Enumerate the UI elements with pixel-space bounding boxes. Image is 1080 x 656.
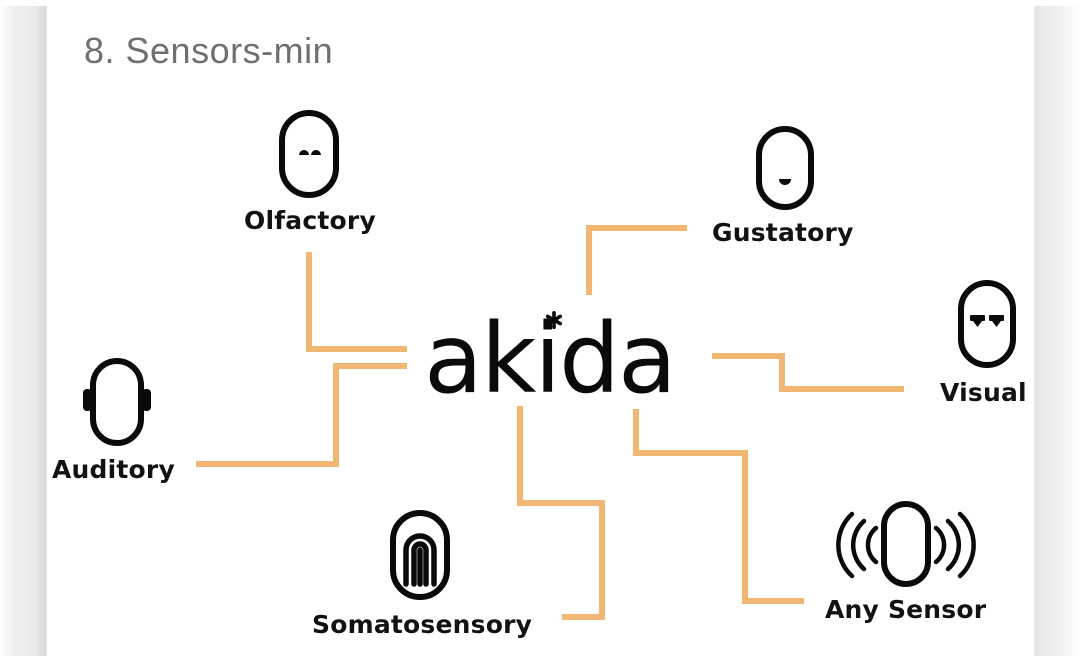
fingerprint-icon: [388, 508, 452, 607]
mouth-head-icon: [754, 124, 816, 217]
screenshot-canvas: 8. Sensors-min akida: [0, 0, 1080, 656]
wire-anysensor-horizontal-upper: [633, 450, 748, 456]
node-gustatory[interactable]: Gustatory: [712, 124, 892, 254]
wire-anysensor-horizontal-lower: [742, 598, 804, 604]
wire-olfactory-horizontal: [306, 346, 407, 352]
nose-head-icon: [277, 108, 341, 205]
panel-edge-left: [46, 0, 47, 656]
wire-visual-horizontal-upper: [712, 353, 785, 359]
wire-auditory-vertical: [333, 363, 339, 467]
wire-somatosensory-horizontal-upper: [517, 500, 605, 506]
node-label-any-sensor: Any Sensor: [825, 595, 986, 624]
wire-somatosensory-vertical-upper: [517, 406, 523, 506]
wire-auditory-horizontal-upper: [333, 363, 407, 369]
akida-logo: akida: [424, 306, 696, 416]
node-visual[interactable]: Visual: [938, 278, 1080, 408]
node-label-auditory: Auditory: [52, 455, 175, 484]
wire-visual-horizontal-lower: [779, 386, 904, 392]
wire-gustatory-vertical: [586, 225, 592, 295]
node-label-somatosensory: Somatosensory: [312, 610, 532, 639]
page-gutter-left: [0, 0, 46, 656]
node-label-gustatory: Gustatory: [712, 218, 854, 247]
node-olfactory[interactable]: Olfactory: [244, 108, 424, 238]
panel-top-strip: [0, 0, 1080, 6]
wire-olfactory-vertical: [306, 252, 312, 352]
wire-gustatory-horizontal: [586, 225, 687, 231]
node-any-sensor[interactable]: Any Sensor: [820, 498, 1020, 633]
wire-somatosensory-horizontal-lower: [562, 614, 605, 620]
vertical-scrollbar-track[interactable]: [1013, 0, 1028, 656]
node-auditory[interactable]: Auditory: [52, 356, 222, 486]
page-title: 8. Sensors-min: [84, 30, 333, 72]
node-somatosensory[interactable]: Somatosensory: [312, 508, 542, 643]
wire-anysensor-vertical-lower: [742, 450, 748, 602]
node-label-olfactory: Olfactory: [244, 206, 376, 235]
ears-head-icon: [80, 356, 154, 453]
signal-head-icon: [828, 498, 980, 595]
eyes-head-icon: [956, 278, 1018, 375]
wire-anysensor-vertical-upper: [633, 409, 639, 456]
wire-somatosensory-vertical-lower: [599, 500, 605, 620]
